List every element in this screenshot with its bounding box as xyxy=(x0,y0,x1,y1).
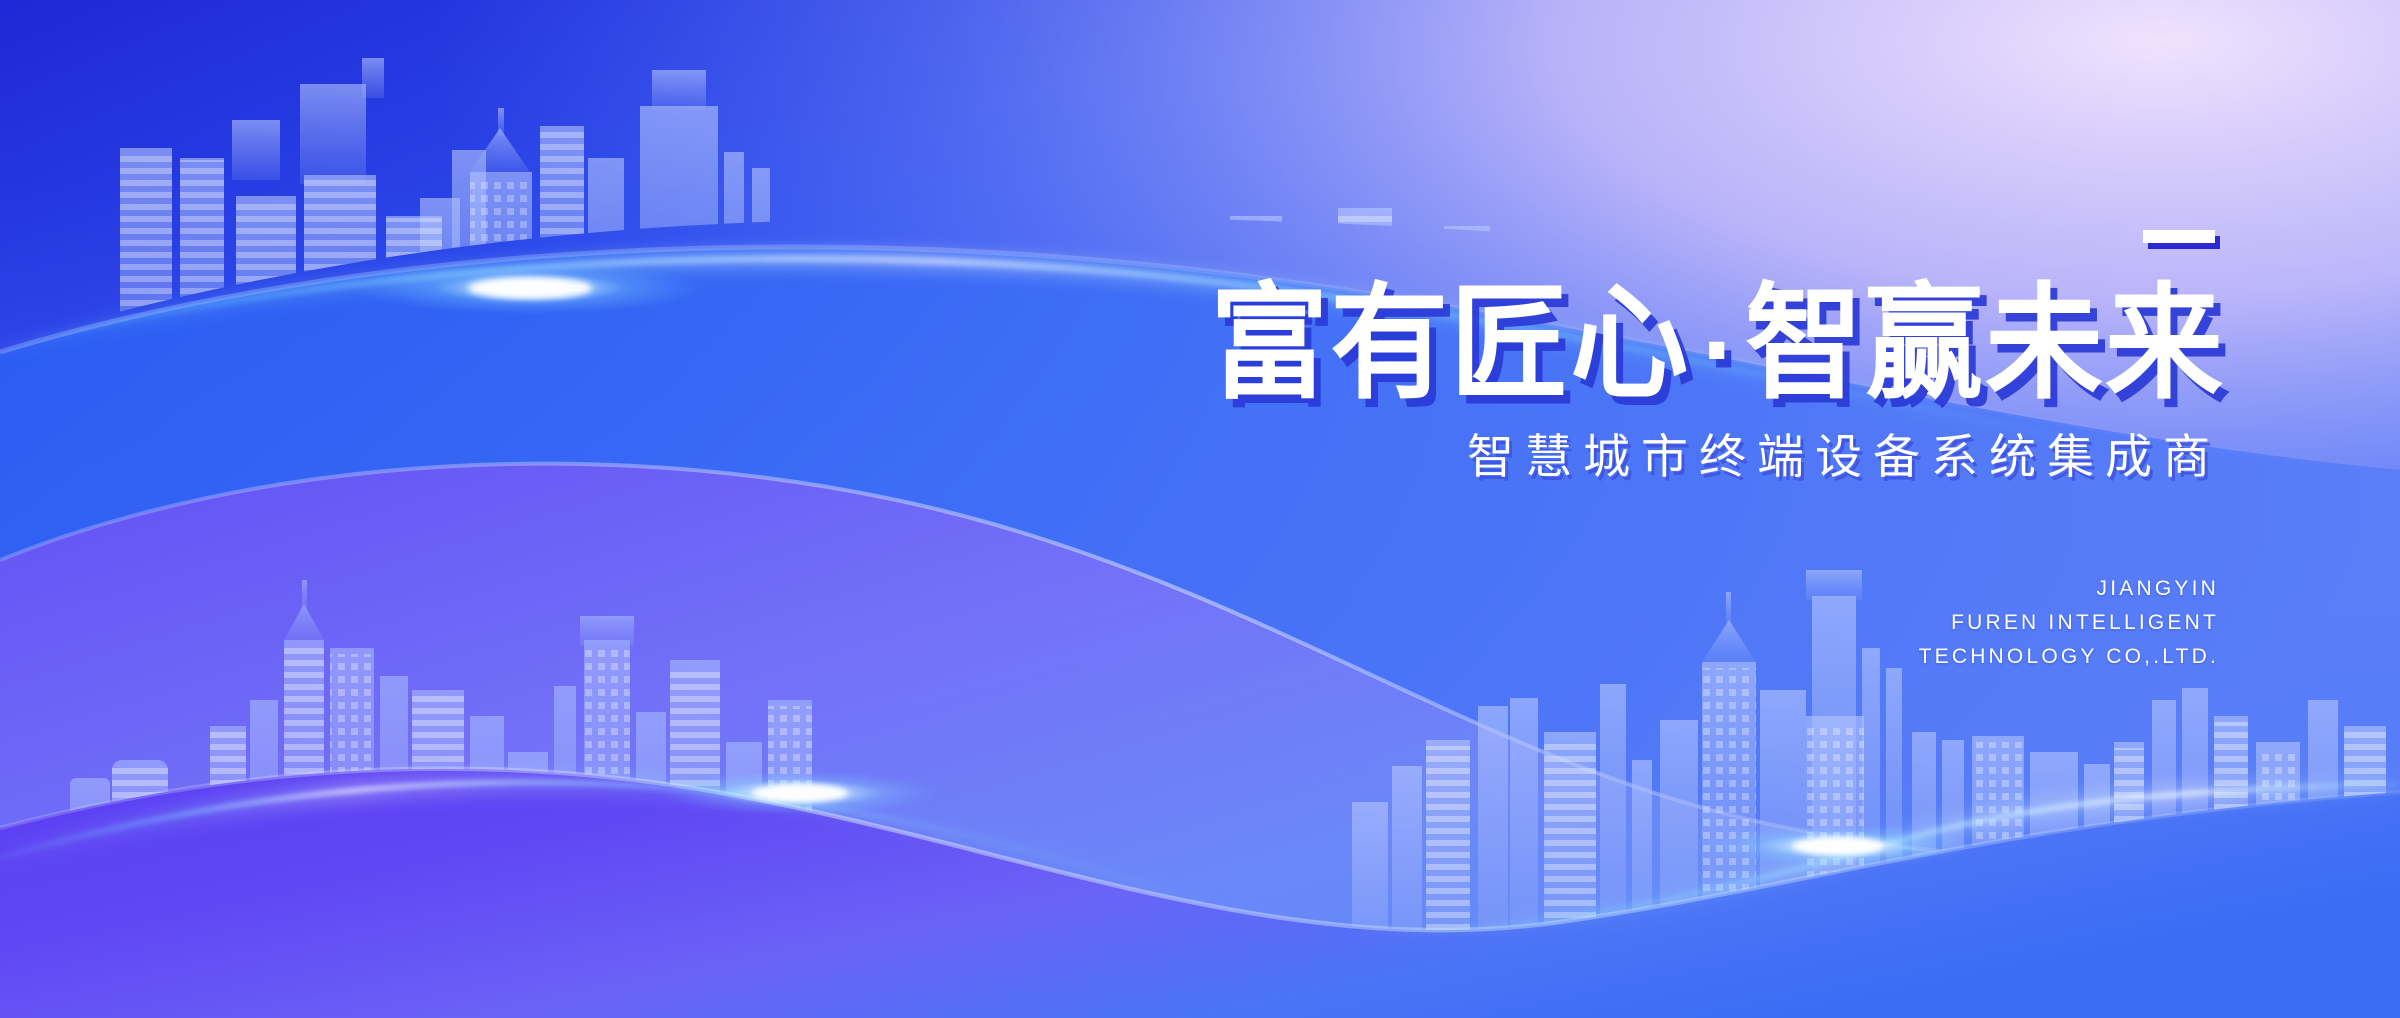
glow-arc-lower xyxy=(0,0,2400,1018)
banner-canvas: 富有匠心·智赢未来 智慧城市终端设备系统集成商 JIANGYIN FUREN I… xyxy=(0,0,2400,1018)
